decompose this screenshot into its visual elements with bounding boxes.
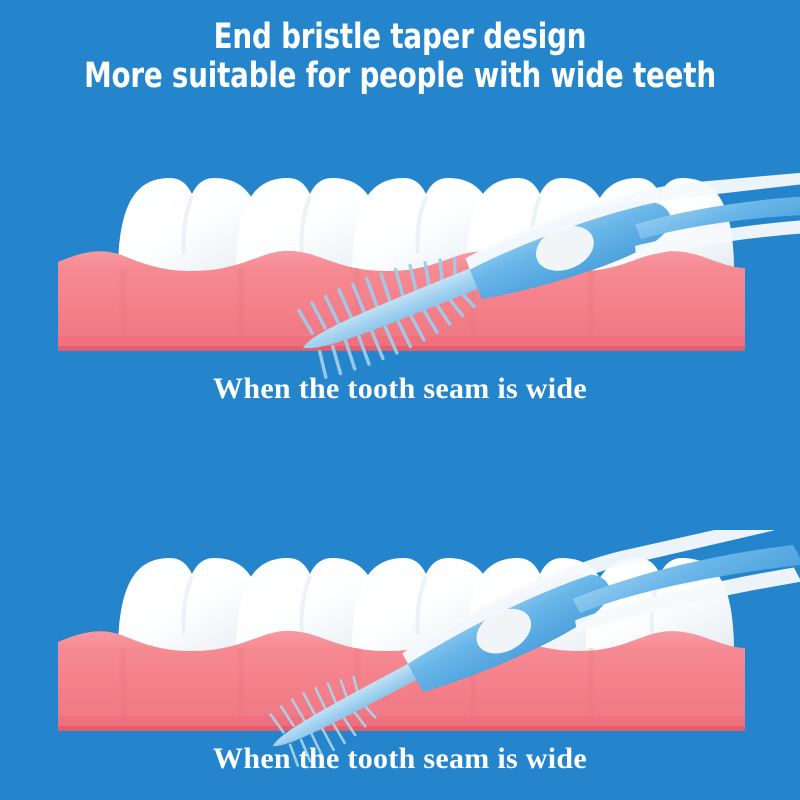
illustration-wide-seam xyxy=(0,150,800,390)
caption-narrow-seam: When the tooth seam is wide xyxy=(0,742,800,776)
infographic-canvas: End bristle taper design More suitable f… xyxy=(0,0,800,800)
illustration-narrow-seam xyxy=(0,530,800,770)
caption-wide-seam: When the tooth seam is wide xyxy=(0,372,800,406)
headline: End bristle taper design More suitable f… xyxy=(0,18,800,96)
headline-line-2: More suitable for people with wide teeth xyxy=(48,57,752,96)
headline-line-1: End bristle taper design xyxy=(48,18,752,57)
